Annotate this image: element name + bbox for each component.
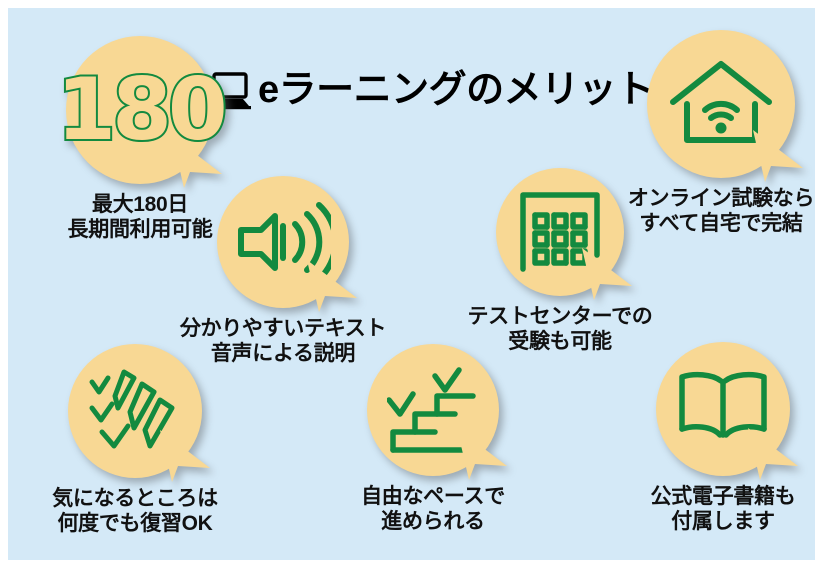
caption-line: 分かりやすいテキスト [170, 316, 396, 341]
bubble-official-ebook [656, 342, 790, 476]
caption-line: オンライン試験なら [616, 186, 815, 211]
caption-review-anytime: 気になるところは 何度でも復習OK [28, 486, 242, 536]
caption-online-exam-home: オンライン試験なら すべて自宅で完結 [616, 186, 815, 236]
caption-line: 気になるところは [28, 486, 242, 511]
bubble-tail [453, 422, 513, 482]
caption-line: 自由なペースで [330, 484, 536, 509]
page-title: eラーニングのメリット [208, 70, 654, 110]
caption-line: 何度でも復習OK [28, 511, 242, 536]
benefit-official-ebook: 公式電子書籍も 付属します [620, 342, 815, 534]
benefit-easy-text-audio: 分かりやすいテキスト 音声による説明 [170, 176, 396, 366]
bubble-tail [744, 422, 804, 482]
infographic-panel: eラーニングのメリット 180 最大180日 長期間利用可能 [8, 8, 815, 560]
bubble-tail [578, 242, 638, 302]
caption-line: 進められる [330, 509, 536, 534]
caption-own-pace: 自由なペースで 進められる [330, 484, 536, 534]
benefit-own-pace: 自由なペースで 進められる [330, 344, 536, 534]
bubble-own-pace [367, 344, 499, 476]
page-title-text: eラーニングのメリット [258, 71, 654, 109]
bubble-tail [156, 424, 216, 484]
caption-line: テストセンターでの [454, 304, 666, 329]
caption-line: すべて自宅で完結 [616, 211, 815, 236]
benefit-online-exam-home: オンライン試験なら すべて自宅で完結 [616, 30, 815, 236]
bubble-test-center [496, 168, 624, 296]
bubble-review-anytime [68, 344, 202, 478]
caption-line: 付属します [620, 509, 815, 534]
caption-official-ebook: 公式電子書籍も 付属します [620, 484, 815, 534]
bubble-tail [303, 254, 363, 314]
caption-line: 公式電子書籍も [620, 484, 815, 509]
bubble-max-180-days: 180 [66, 36, 214, 184]
bubble-tail [749, 124, 809, 184]
bubble-online-exam-home [647, 30, 795, 178]
bubble-easy-text-audio [217, 176, 349, 308]
benefit-review-anytime: 気になるところは 何度でも復習OK [28, 344, 242, 536]
